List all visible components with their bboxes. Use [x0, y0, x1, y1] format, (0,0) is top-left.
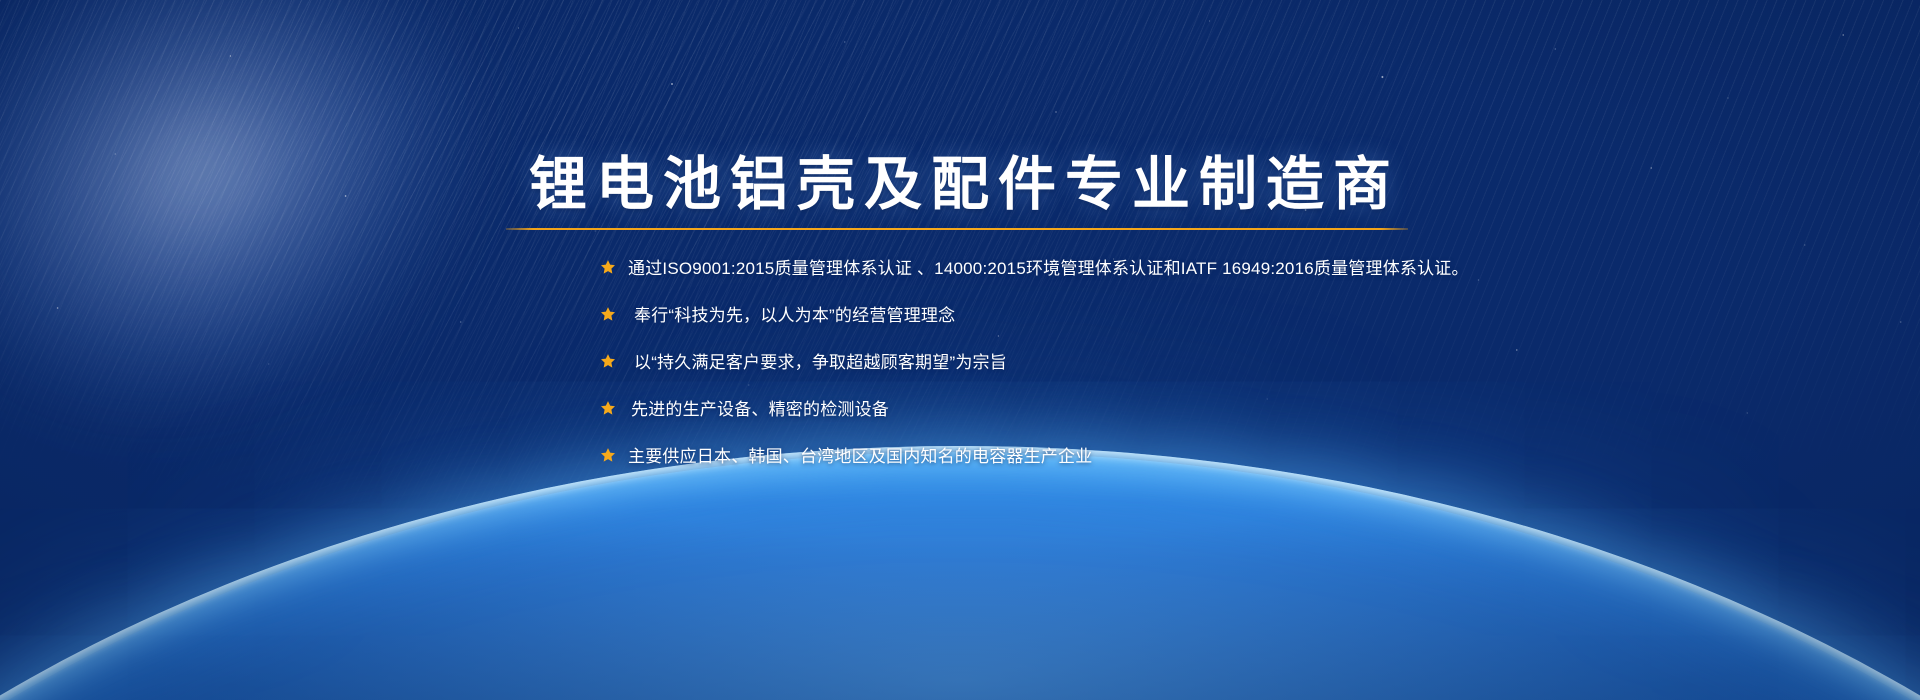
list-item: 奉行“科技为先，以人为本”的经营管理理念	[600, 290, 1520, 337]
star-icon	[600, 306, 616, 322]
list-item: 先进的生产设备、精密的检测设备	[600, 384, 1520, 431]
list-item: 主要供应日本、韩国、台湾地区及国内知名的电容器生产企业	[600, 431, 1520, 478]
banner-content: 锂电池铝壳及配件专业制造商 通过ISO9001:2015质量管理体系认证 、14…	[0, 0, 1920, 700]
list-item-label: 先进的生产设备、精密的检测设备	[628, 395, 889, 420]
headline-divider	[506, 228, 1408, 230]
star-icon	[600, 353, 616, 369]
list-item: 以“持久满足客户要求，争取超越顾客期望”为宗旨	[600, 337, 1520, 384]
star-icon	[600, 400, 616, 416]
list-item-label: 主要供应日本、韩国、台湾地区及国内知名的电容器生产企业	[628, 442, 1092, 467]
banner-headline: 锂电池铝壳及配件专业制造商	[0, 150, 1920, 220]
list-item-label: 奉行“科技为先，以人为本”的经营管理理念	[628, 301, 955, 326]
list-item: 通过ISO9001:2015质量管理体系认证 、14000:2015环境管理体系…	[600, 243, 1520, 290]
list-item-label: 以“持久满足客户要求，争取超越顾客期望”为宗旨	[628, 348, 1007, 373]
hero-banner: 锂电池铝壳及配件专业制造商 通过ISO9001:2015质量管理体系认证 、14…	[0, 0, 1920, 700]
star-icon	[600, 259, 616, 275]
feature-bullet-list: 通过ISO9001:2015质量管理体系认证 、14000:2015环境管理体系…	[600, 243, 1520, 478]
star-icon	[600, 447, 616, 463]
list-item-label: 通过ISO9001:2015质量管理体系认证 、14000:2015环境管理体系…	[628, 254, 1469, 279]
